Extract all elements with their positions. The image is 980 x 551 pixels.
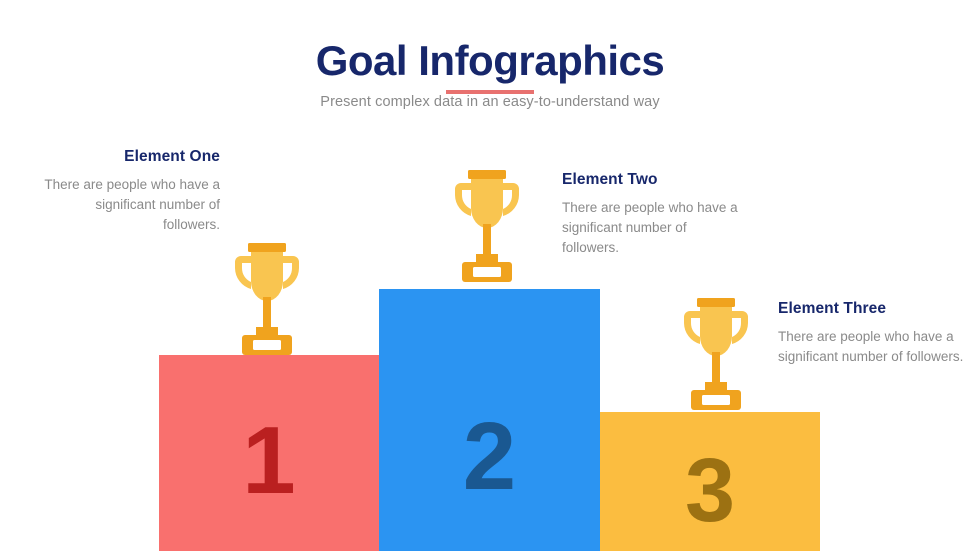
podium-rank-number-three: 3: [600, 446, 820, 536]
podium-block-one: 1: [159, 355, 379, 551]
infographic-slide: Goal Infographics Present complex data i…: [0, 0, 980, 551]
page-subtitle: Present complex data in an easy-to-under…: [0, 94, 980, 110]
podium-rank-number-two: 2: [379, 409, 600, 505]
title-underline-divider: [446, 90, 534, 94]
element-description-one: There are people who have a significant …: [42, 175, 220, 235]
element-block-one: Element One There are people who have a …: [42, 148, 220, 235]
element-title-three: Element Three: [778, 300, 968, 318]
podium-block-two: 2: [379, 289, 600, 551]
podium-block-three: 3: [600, 412, 820, 551]
element-block-three: Element Three There are people who have …: [778, 300, 968, 367]
trophy-icon: [229, 243, 305, 360]
header: Goal Infographics Present complex data i…: [0, 38, 980, 110]
element-block-two: Element Two There are people who have a …: [562, 171, 747, 258]
element-title-two: Element Two: [562, 171, 747, 189]
element-description-three: There are people who have a significant …: [778, 327, 968, 367]
element-title-one: Element One: [42, 148, 220, 166]
trophy-icon: [449, 170, 525, 287]
podium-rank-number-one: 1: [159, 413, 379, 509]
page-title: Goal Infographics: [0, 38, 980, 83]
element-description-two: There are people who have a significant …: [562, 198, 747, 258]
trophy-icon: [678, 298, 754, 415]
